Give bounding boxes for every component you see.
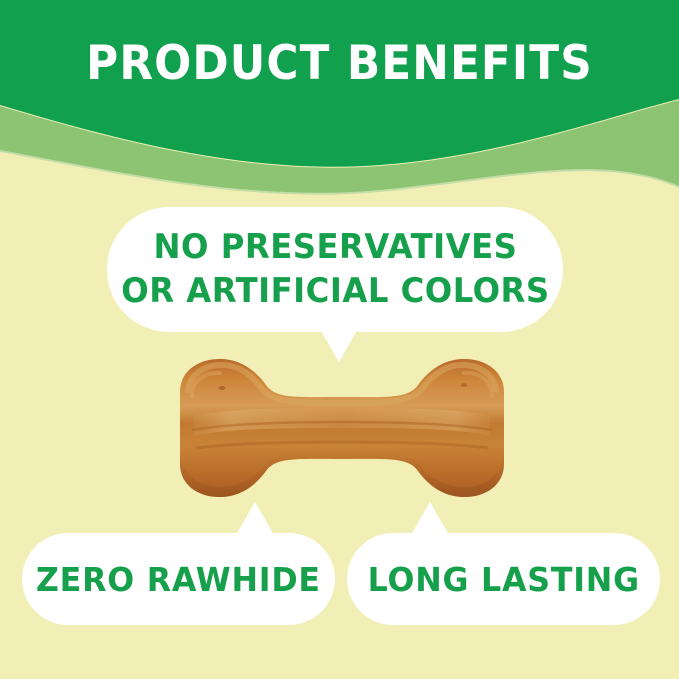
bubble-tail-bottom-right bbox=[411, 502, 449, 535]
product-benefits-infographic: PRODUCT BENEFITS NO PRESERVATIVES OR ART… bbox=[0, 0, 679, 679]
bone-left-dimple bbox=[219, 386, 226, 390]
page-title: PRODUCT BENEFITS bbox=[24, 36, 655, 91]
benefit-line-1: NO PRESERVATIVES bbox=[121, 226, 549, 270]
bone-right-dimple bbox=[461, 383, 467, 387]
benefit-bubble-preservatives[interactable]: NO PRESERVATIVES OR ARTIFICIAL COLORS bbox=[107, 207, 563, 332]
benefit-bubble-zero-rawhide-text: ZERO RAWHIDE bbox=[36, 560, 321, 599]
header-wave-band: PRODUCT BENEFITS bbox=[0, 0, 679, 205]
bubble-tail-bottom-left bbox=[236, 502, 274, 535]
benefit-bubble-preservatives-text: NO PRESERVATIVES OR ARTIFICIAL COLORS bbox=[121, 226, 549, 313]
benefit-bubble-zero-rawhide[interactable]: ZERO RAWHIDE bbox=[22, 533, 335, 625]
benefit-line-2: OR ARTIFICIAL COLORS bbox=[121, 270, 549, 314]
benefit-bubble-long-lasting-text: LONG LASTING bbox=[367, 560, 639, 599]
dog-chew-bone-image bbox=[148, 352, 536, 504]
benefit-bubble-long-lasting[interactable]: LONG LASTING bbox=[347, 533, 660, 625]
